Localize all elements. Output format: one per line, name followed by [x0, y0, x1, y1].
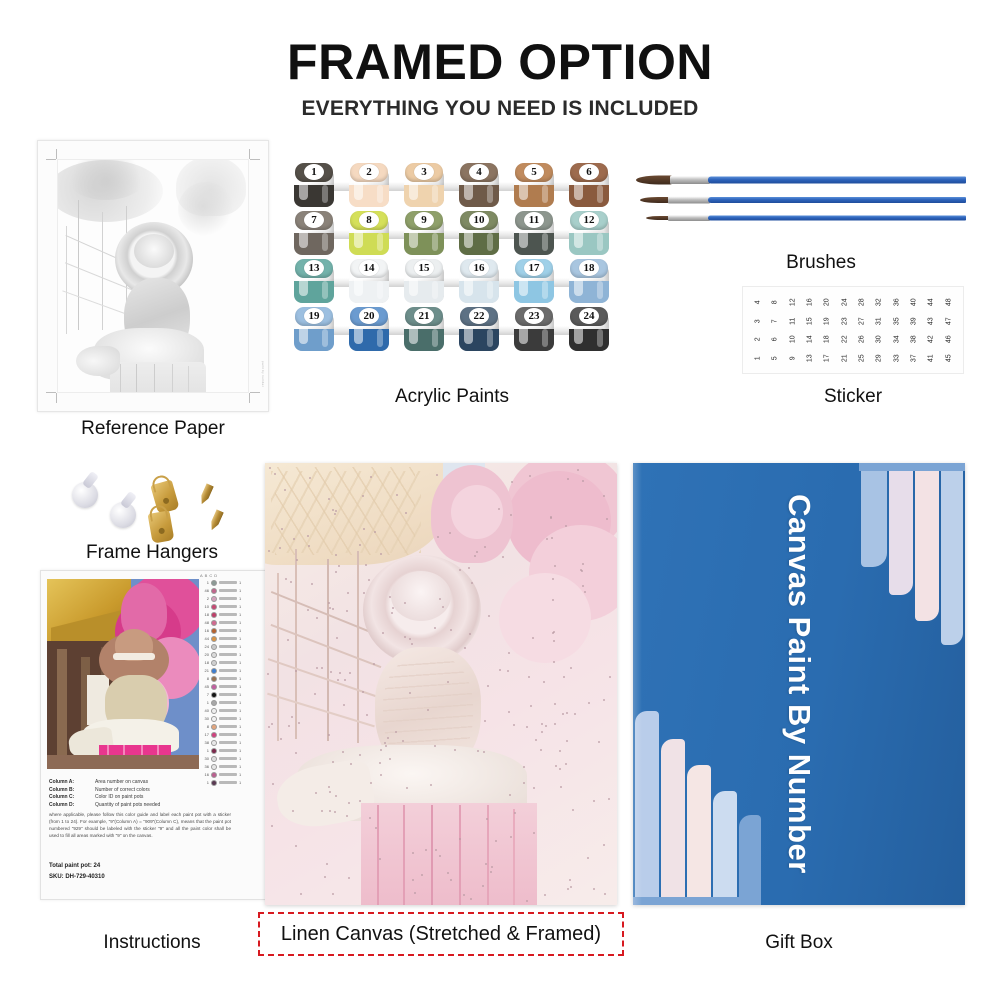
paint-pot-gloss: [542, 233, 548, 251]
paint-pot-number: 3: [402, 164, 446, 181]
sticker-number[interactable]: 26: [852, 331, 871, 348]
paint-pot-row: 123456: [292, 163, 612, 209]
canvas-number-dot: [582, 585, 584, 587]
legend-color-code: [219, 581, 237, 584]
canvas-number-dot: [300, 893, 302, 895]
legend-quantity: 1: [239, 628, 244, 633]
legend-area-number: 18: [200, 612, 209, 617]
canvas-number-dot: [307, 609, 309, 611]
paint-pot[interactable]: 22: [457, 307, 501, 353]
canvas-number-dot: [511, 481, 513, 483]
canvas-number-dot: [389, 758, 391, 760]
instructions-column-line: Column D:Quantity of paint pots needed: [49, 802, 225, 808]
legend-color-code: [219, 629, 237, 632]
sticker-number[interactable]: 11: [783, 312, 802, 329]
canvas-number-dot: [552, 599, 554, 601]
gift-box-stroke: [859, 463, 965, 471]
brush-bristles: [636, 176, 674, 185]
canvas-number-dot: [267, 673, 269, 675]
canvas-number-dot: [314, 693, 316, 695]
instructions-sku: SKU: DH-729-40310: [49, 874, 105, 880]
paint-pot-gloss: [597, 233, 603, 251]
brush-bristles: [646, 216, 670, 220]
canvas-number-dot: [268, 550, 270, 552]
legend-area-number: 40: [200, 708, 209, 713]
canvas-number-dot: [292, 810, 294, 812]
canvas-number-dot: [311, 583, 313, 585]
paint-pot-gloss: [487, 233, 493, 251]
canvas-number-dot: [469, 633, 471, 635]
legend-area-number: 46: [200, 588, 209, 593]
paint-pot-rod: [300, 230, 604, 239]
paint-pot[interactable]: 17: [512, 259, 556, 305]
sticker-number[interactable]: 21: [835, 349, 854, 366]
canvas-number-dot: [332, 761, 334, 763]
paint-pot[interactable]: 3: [402, 163, 446, 209]
legend-area-number: 18: [200, 660, 209, 665]
sticker-number[interactable]: 32: [870, 294, 889, 311]
canvas-number-dot: [316, 617, 318, 619]
legend-area-number: 30: [200, 716, 209, 721]
paint-pot[interactable]: 20: [347, 307, 391, 353]
canvas-number-dot: [380, 749, 382, 751]
canvas-number-dot: [484, 720, 486, 722]
legend-quantity: 1: [239, 780, 244, 785]
gift-box-stroke: [915, 471, 939, 621]
legend-area-number: 1: [200, 580, 209, 585]
legend-area-number: 8: [200, 676, 209, 681]
legend-row: 451: [200, 683, 262, 690]
gift-box-stroke: [889, 471, 913, 595]
sticker-number[interactable]: 4: [748, 294, 767, 311]
legend-color-code: [219, 765, 237, 768]
sticker-number[interactable]: 13: [800, 349, 819, 366]
wall-plug-stem: [82, 471, 99, 489]
legend-header-a: A: [200, 573, 203, 578]
canvas-number-dot: [335, 510, 337, 512]
canvas-number-dot: [349, 672, 351, 674]
brush-medium: [636, 194, 966, 206]
sticker-number[interactable]: 40: [904, 294, 923, 311]
sticker-number[interactable]: 46: [939, 331, 958, 348]
legend-quantity: 1: [239, 596, 244, 601]
canvas-number-dot: [307, 535, 309, 537]
paint-pot[interactable]: 5: [512, 163, 556, 209]
gift-box-stroke: [687, 765, 711, 897]
canvas-number-dot: [316, 667, 318, 669]
sticker-number[interactable]: 38: [904, 331, 923, 348]
canvas-number-dot: [338, 565, 340, 567]
instructions-column-key-label: Column B:: [49, 787, 89, 793]
canvas-number-dot: [365, 564, 367, 566]
canvas-number-dot: [329, 607, 331, 609]
canvas-number-dot: [332, 608, 334, 610]
canvas-number-dot: [551, 537, 553, 539]
paint-pot[interactable]: 8: [347, 211, 391, 257]
legend-color-swatch: [211, 740, 217, 746]
brush-ferrule: [668, 197, 710, 204]
paint-pot[interactable]: 11: [512, 211, 556, 257]
sticker-number[interactable]: 48: [939, 294, 958, 311]
canvas-number-dot: [606, 518, 608, 520]
sticker-number[interactable]: 5: [766, 349, 785, 366]
gift-box-stroke: [861, 471, 887, 567]
legend-color-swatch: [211, 588, 217, 594]
caption-frame-hangers: Frame Hangers: [36, 542, 268, 564]
paint-pot[interactable]: 19: [292, 307, 336, 353]
canvas-number-dot: [368, 579, 370, 581]
canvas-number-dot: [582, 563, 584, 565]
canvas-number-dot: [296, 559, 298, 561]
canvas-number-dot: [474, 555, 476, 557]
canvas-number-dot: [566, 740, 568, 742]
legend-color-code: [219, 741, 237, 744]
legend-color-code: [219, 597, 237, 600]
legend-color-swatch: [211, 716, 217, 722]
d-ring-hanger: [148, 510, 175, 543]
canvas-number-dot: [471, 582, 473, 584]
sticker-number[interactable]: 33: [887, 349, 906, 366]
sticker-number[interactable]: 36: [887, 294, 906, 311]
legend-area-number: 36: [200, 764, 209, 769]
legend-color-code: [219, 773, 237, 776]
screw: [208, 509, 224, 531]
canvas-number-dot: [541, 723, 543, 725]
paint-pot-number: 9: [402, 212, 446, 229]
wall-plug: [110, 502, 136, 528]
paint-pot[interactable]: 15: [402, 259, 446, 305]
screw: [198, 483, 214, 505]
paint-pot-gloss: [542, 329, 548, 347]
paint-pot[interactable]: 12: [567, 211, 611, 257]
legend-color-code: [219, 749, 237, 752]
sticker-number[interactable]: 9: [783, 349, 802, 366]
legend-color-code: [219, 717, 237, 720]
canvas-number-dot: [603, 844, 605, 846]
legend-color-code: [219, 621, 237, 624]
canvas-number-dot: [326, 863, 328, 865]
crop-mark: [249, 393, 250, 403]
canvas-number-dot: [544, 894, 546, 896]
legend-color-swatch: [211, 700, 217, 706]
legend-color-code: [219, 637, 237, 640]
legend-quantity: 1: [239, 588, 244, 593]
canvas-number-dot: [526, 900, 528, 902]
legend-row: 11: [200, 579, 262, 586]
paint-pot-gloss: [542, 281, 548, 299]
canvas-number-dot: [389, 596, 391, 598]
paint-pot-gloss: [487, 185, 493, 203]
sticker-number[interactable]: 39: [904, 312, 923, 329]
canvas-number-dot: [344, 679, 346, 681]
legend-header-b: B: [205, 573, 208, 578]
sticker-number[interactable]: 14: [800, 331, 819, 348]
sticker-number[interactable]: 34: [887, 331, 906, 348]
sticker-number[interactable]: 29: [870, 349, 889, 366]
paint-pot-gloss: [377, 281, 383, 299]
sticker-number[interactable]: 28: [852, 294, 871, 311]
legend-area-number: 20: [200, 652, 209, 657]
canvas-number-dot: [329, 791, 331, 793]
sticker-number-grid: 4812162024283236404448371115192327313539…: [749, 293, 957, 367]
legend-area-number: 44: [200, 636, 209, 641]
canvas-number-dot: [565, 525, 567, 527]
canvas-number-dot: [387, 737, 389, 739]
sticker-number[interactable]: 35: [887, 312, 906, 329]
legend-color-code: [219, 589, 237, 592]
instructions-paragraph: where applicable, please follow this col…: [49, 811, 231, 839]
sticker-number[interactable]: 25: [852, 349, 871, 366]
sticker-number[interactable]: 23: [835, 312, 854, 329]
crop-mark: [46, 159, 56, 160]
canvas-number-dot: [280, 738, 282, 740]
legend-row: 241: [200, 643, 262, 650]
paint-pot[interactable]: 13: [292, 259, 336, 305]
brush-bristles: [640, 197, 670, 203]
canvas-number-dot: [488, 615, 490, 617]
sticker-number[interactable]: 19: [818, 312, 837, 329]
sticker-number[interactable]: 12: [783, 294, 802, 311]
paint-pot[interactable]: 21: [402, 307, 446, 353]
instructions-color-legend: A B C D 11461211011814811614412412011812…: [200, 579, 262, 791]
canvas-number-dot: [328, 498, 330, 500]
legend-color-code: [219, 661, 237, 664]
wall-plug: [72, 482, 98, 508]
canvas-number-dot: [554, 723, 556, 725]
canvas-number-dot: [570, 886, 572, 888]
paint-pot-gloss: [432, 233, 438, 251]
canvas-number-dot: [508, 652, 510, 654]
paint-pot-number: 8: [347, 212, 391, 229]
sticker-number[interactable]: 16: [800, 294, 819, 311]
legend-row: 361: [200, 763, 262, 770]
paint-pot-gloss: [597, 281, 603, 299]
canvas-number-dot: [430, 784, 432, 786]
paint-pot[interactable]: 4: [457, 163, 501, 209]
canvas-number-dot: [409, 638, 411, 640]
paint-pot-number: 18: [567, 260, 611, 277]
legend-quantity: 1: [239, 708, 244, 713]
paint-pot[interactable]: 14: [347, 259, 391, 305]
sticker-number[interactable]: 1: [748, 349, 767, 366]
canvas-number-dot: [334, 811, 336, 813]
legend-row: 461: [200, 587, 262, 594]
sticker-number[interactable]: 45: [939, 349, 958, 366]
canvas-number-dot: [369, 817, 371, 819]
sticker-number[interactable]: 27: [852, 312, 871, 329]
paint-pot[interactable]: 18: [567, 259, 611, 305]
canvas-number-dot: [523, 782, 525, 784]
paint-pot[interactable]: 9: [402, 211, 446, 257]
sticker-number[interactable]: 10: [783, 331, 802, 348]
legend-color-swatch: [211, 684, 217, 690]
canvas-number-dot: [559, 750, 561, 752]
canvas-number-dot: [272, 783, 274, 785]
paint-pot-gloss: [322, 233, 328, 251]
paint-pot-rod: [300, 278, 604, 287]
legend-quantity: 1: [239, 580, 244, 585]
canvas-number-dot: [535, 739, 537, 741]
canvas-number-dot: [391, 612, 393, 614]
brush-handle: [708, 177, 966, 184]
canvas-number-dot: [447, 872, 449, 874]
canvas-number-dot: [308, 545, 310, 547]
canvas-number-dot: [530, 705, 532, 707]
legend-color-swatch: [211, 708, 217, 714]
canvas-number-dot: [552, 632, 554, 634]
canvas-number-dot: [582, 480, 584, 482]
legend-area-number: 17: [200, 732, 209, 737]
crop-mark: [56, 393, 57, 403]
canvas-number-dot: [339, 672, 341, 674]
paint-pot-gloss: [432, 185, 438, 203]
instructions-column-key-label: Column A:: [49, 779, 89, 785]
paint-pot-number: 22: [457, 308, 501, 325]
canvas-number-dot: [342, 751, 344, 753]
legend-row: 101: [200, 603, 262, 610]
d-ring-hole: [162, 497, 169, 504]
canvas-number-dot: [562, 713, 564, 715]
gift-box-preview: Canvas Paint By Number: [633, 463, 965, 905]
legend-quantity: 1: [239, 724, 244, 729]
legend-color-swatch: [211, 612, 217, 618]
paint-pot[interactable]: 1: [292, 163, 336, 209]
paint-pot-number: 1: [292, 164, 336, 181]
canvas-number-dot: [593, 800, 595, 802]
gift-box-stroke: [739, 815, 761, 897]
canvas-number-dot: [554, 565, 556, 567]
legend-color-swatch: [211, 732, 217, 738]
paint-pot-rod: [300, 182, 604, 191]
paint-pot[interactable]: 16: [457, 259, 501, 305]
canvas-number-dot: [510, 514, 512, 516]
paint-pot[interactable]: 7: [292, 211, 336, 257]
sticker-number[interactable]: 47: [939, 312, 958, 329]
paint-pot-number: 6: [567, 164, 611, 181]
canvas-number-dot: [348, 802, 350, 804]
sticker-number[interactable]: 17: [818, 349, 837, 366]
canvas-number-dot: [491, 866, 493, 868]
sticker-number[interactable]: 31: [870, 312, 889, 329]
legend-area-number: 30: [200, 756, 209, 761]
paint-pot-number: 19: [292, 308, 336, 325]
canvas-number-dot: [526, 726, 528, 728]
canvas-number-dot: [336, 637, 338, 639]
legend-color-swatch: [211, 652, 217, 658]
sticker-number[interactable]: 41: [922, 349, 941, 366]
sticker-number[interactable]: 22: [835, 331, 854, 348]
canvas-number-dot: [363, 528, 365, 530]
legend-row: 181: [200, 611, 262, 618]
reference-paper-sheet: paint by number: [37, 140, 269, 412]
crop-mark: [250, 159, 260, 160]
sticker-number[interactable]: 37: [904, 349, 923, 366]
canvas-number-dot: [395, 731, 397, 733]
sticker-number[interactable]: 8: [766, 294, 785, 311]
legend-row: 21: [200, 595, 262, 602]
reference-line-art: [57, 159, 249, 393]
paint-pot-number: 5: [512, 164, 556, 181]
canvas-number-dot: [434, 745, 436, 747]
legend-color-swatch: [211, 636, 217, 642]
brush-handle: [708, 197, 966, 203]
paint-pot[interactable]: 6: [567, 163, 611, 209]
canvas-number-dot: [450, 629, 452, 631]
canvas-number-dot: [559, 768, 561, 770]
paint-pot-number: 17: [512, 260, 556, 277]
canvas-number-dot: [287, 639, 289, 641]
canvas-number-dot: [271, 723, 273, 725]
paint-pot-row: 789101112: [292, 211, 612, 257]
legend-quantity: 1: [239, 748, 244, 753]
canvas-number-dot: [509, 794, 511, 796]
canvas-number-dot: [436, 474, 438, 476]
canvas-number-dot: [450, 879, 452, 881]
sticker-number[interactable]: 30: [870, 331, 889, 348]
gift-box-stroke: [713, 791, 737, 897]
legend-quantity: 1: [239, 660, 244, 665]
canvas-number-dot: [427, 709, 429, 711]
canvas-number-dot: [553, 661, 555, 663]
legend-quantity: 1: [239, 716, 244, 721]
paint-pot[interactable]: 23: [512, 307, 556, 353]
gift-box-stroke: [633, 897, 761, 905]
instructions-column-value: Number of correct colors: [95, 787, 150, 793]
legend-color-swatch: [211, 676, 217, 682]
canvas-number-dot: [572, 809, 574, 811]
paint-pot-gloss: [377, 185, 383, 203]
sticker-number[interactable]: 15: [800, 312, 819, 329]
sticker-number[interactable]: 44: [922, 294, 941, 311]
canvas-number-dot: [414, 892, 416, 894]
sticker-number[interactable]: 42: [922, 331, 941, 348]
reference-side-note: paint by number: [261, 361, 265, 387]
legend-row: 81: [200, 675, 262, 682]
instructions-column-key: Column A:Area number on canvasColumn B:N…: [49, 779, 225, 809]
paint-pot[interactable]: 10: [457, 211, 501, 257]
canvas-number-dot: [298, 722, 300, 724]
paint-pot-row: 192021222324: [292, 307, 612, 353]
legend-header-row: A B C D: [200, 573, 262, 578]
canvas-number-dot: [468, 567, 470, 569]
canvas-number-dot: [490, 871, 492, 873]
crop-mark: [249, 149, 250, 159]
sticker-number[interactable]: 18: [818, 331, 837, 348]
sticker-number[interactable]: 24: [835, 294, 854, 311]
canvas-number-dot: [574, 713, 576, 715]
sticker-number[interactable]: 3: [748, 312, 767, 329]
canvas-number-dot: [315, 792, 317, 794]
paint-pot[interactable]: 24: [567, 307, 611, 353]
crop-mark: [250, 392, 260, 393]
canvas-number-dot: [532, 637, 534, 639]
sticker-number[interactable]: 43: [922, 312, 941, 329]
canvas-number-dot: [363, 592, 365, 594]
sticker-number[interactable]: 6: [766, 331, 785, 348]
canvas-number-dot: [499, 669, 501, 671]
paint-pot-number: 10: [457, 212, 501, 229]
legend-quantity: 1: [239, 604, 244, 609]
canvas-number-dot: [293, 538, 295, 540]
paint-pot[interactable]: 2: [347, 163, 391, 209]
sticker-number[interactable]: 2: [748, 331, 767, 348]
canvas-number-dot: [523, 766, 525, 768]
sticker-number[interactable]: 20: [818, 294, 837, 311]
paint-pot-number: 21: [402, 308, 446, 325]
canvas-number-dot: [437, 536, 439, 538]
sticker-number[interactable]: 7: [766, 312, 785, 329]
canvas-number-dot: [577, 469, 579, 471]
